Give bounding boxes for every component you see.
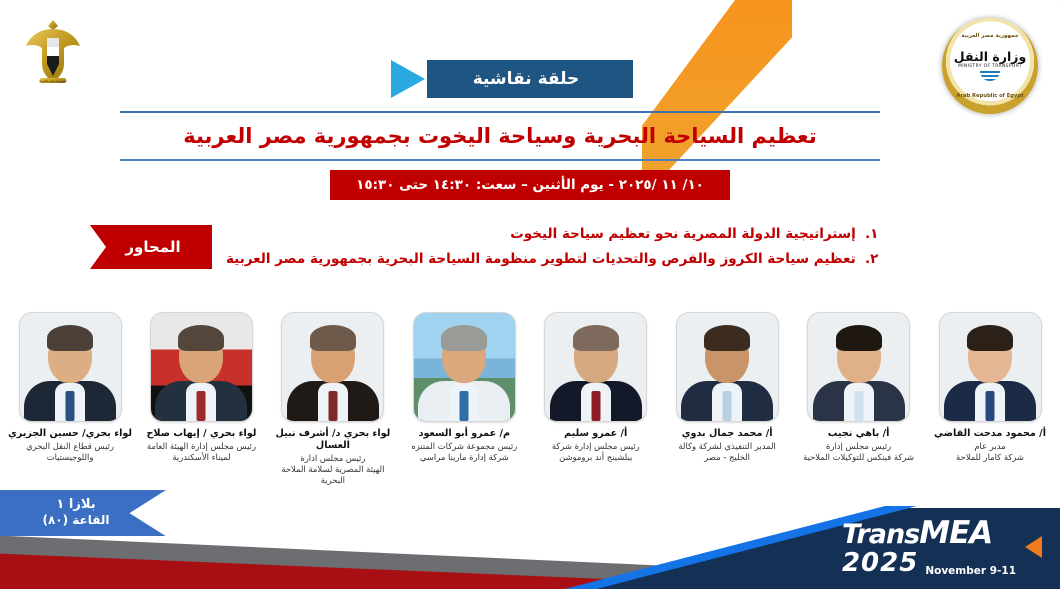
speaker-name: أ/ محمد جمال بدوي xyxy=(664,428,790,440)
badge-arrow-icon xyxy=(391,60,425,98)
axis-number: ١. xyxy=(860,222,878,247)
axis-text: تعظيم سياحة الكروز والفرص والتحديات لتطو… xyxy=(226,251,860,267)
speaker-card: أ/ باهي نجيبرئيس مجلس إدارةشركة فينكس لل… xyxy=(797,312,921,463)
speaker-name: أ/ محمود مدحت القاضي xyxy=(927,428,1053,440)
portrait-hair xyxy=(47,325,93,351)
event-dates: 9-11 November xyxy=(925,566,1016,577)
speaker-portrait xyxy=(544,312,647,422)
axes-list: ١. إستراتيجية الدولة المصرية نحو تعظيم س… xyxy=(226,222,878,272)
axis-item: ٢. تعظيم سياحة الكروز والفرص والتحديات ل… xyxy=(226,247,878,272)
seal-main-text: وزارة النقل xyxy=(954,51,1026,64)
portrait-hair xyxy=(310,325,356,351)
poster-canvas: جمهورية مصر العربية جمهورية مصر العربية … xyxy=(0,0,1060,598)
portrait-tie xyxy=(460,391,469,421)
speakers-row: أ/ محمود مدحت القاضيمدير عامشركة كامار ل… xyxy=(8,312,1052,486)
session-datetime-bar: ١٠/ ١١ /٢٠٢٥ - يوم الأثنين – سعت: ١٤:٣٠ … xyxy=(330,170,730,200)
axis-item: ١. إستراتيجية الدولة المصرية نحو تعظيم س… xyxy=(226,222,878,247)
portrait-hair xyxy=(178,325,224,351)
brand-mea: MEA xyxy=(919,515,992,551)
brand-trans: Trans xyxy=(842,519,919,550)
brand-line-2: 9-11 November 2025 xyxy=(842,550,1016,576)
portrait-tie xyxy=(197,391,206,421)
seal-top-text: جمهورية مصر العربية xyxy=(961,33,1019,39)
speaker-name: لواء بحري د/ أشرف نبيل العسال xyxy=(270,428,396,452)
session-badge-row: حلقة نقاشية xyxy=(0,60,1060,98)
page-title: تعظيم السياحة البحرية وسياحة اليخوت بجمه… xyxy=(120,113,880,159)
hall-room-label: القاعة (٨٠) xyxy=(16,513,136,529)
title-rule-bottom xyxy=(120,159,880,161)
transmea-wordmark: TransMEA 9-11 November 2025 xyxy=(842,518,1016,576)
speaker-role: رئيس مجلس ادارةالهيئة المصرية لسلامة الم… xyxy=(270,453,396,486)
portrait-tie xyxy=(591,391,600,421)
speaker-role: رئيس قطاع النقل البحريواللوجيستيات xyxy=(7,441,133,463)
speaker-name: م/ عمرو أبو السعود xyxy=(401,428,527,440)
speaker-card: لواء بحري د/ أشرف نبيل العسالرئيس مجلس ا… xyxy=(271,312,395,486)
speaker-name: لواء بحري / إيهاب صلاح xyxy=(138,428,264,440)
session-type-badge: حلقة نقاشية xyxy=(427,60,634,98)
speaker-portrait xyxy=(413,312,516,422)
seal-bottom-text: Arab Republic of Egypt xyxy=(956,93,1023,99)
speaker-role: رئيس مجلس إدارةشركة فينكس للتوكيلات المل… xyxy=(796,441,922,463)
play-triangle-icon xyxy=(1025,536,1042,558)
hall-plaza-label: بلازا ١ xyxy=(16,497,136,513)
event-year: 2025 xyxy=(842,550,918,576)
speaker-card: لواء بحري/ حسين الجزيريرئيس قطاع النقل ا… xyxy=(8,312,132,463)
speaker-portrait xyxy=(281,312,384,422)
speaker-name: أ/ عمرو سليم xyxy=(533,428,659,440)
speaker-name: لواء بحري/ حسين الجزيري xyxy=(7,428,133,440)
portrait-tie xyxy=(66,391,75,421)
portrait-hair xyxy=(836,325,882,351)
speaker-portrait xyxy=(19,312,122,422)
speaker-portrait xyxy=(676,312,779,422)
footer-white-strip xyxy=(0,589,1060,598)
speaker-role: رئيس مجموعة شركات المتنزهشركة إدارة ماري… xyxy=(401,441,527,463)
speaker-portrait xyxy=(807,312,910,422)
brand-line-1: TransMEA xyxy=(842,518,992,549)
portrait-tie xyxy=(986,391,995,421)
speaker-role: رئيس مجلس إدارة الهيئة العامةلميناء الأس… xyxy=(138,441,264,463)
speaker-card: م/ عمرو أبو السعودرئيس مجموعة شركات المت… xyxy=(402,312,526,463)
hall-banner: بلازا ١ القاعة (٨٠) xyxy=(0,490,166,536)
egypt-eagle-icon: جمهورية مصر العربية xyxy=(18,16,88,90)
transmea-logo: TransMEA 9-11 November 2025 xyxy=(842,518,1042,576)
axes-flag-label: المحاور xyxy=(90,225,212,269)
speaker-card: أ/ محمد جمال بدويالمدير التنفيذي لشركة و… xyxy=(665,312,789,463)
speaker-card: أ/ محمود مدحت القاضيمدير عامشركة كامار ل… xyxy=(928,312,1052,463)
speaker-role: مدير عامشركة كامار للملاحة xyxy=(927,441,1053,463)
speaker-card: أ/ عمرو سليمرئيس مجلس إدارة شركةيبلشينج … xyxy=(534,312,658,463)
portrait-hair xyxy=(573,325,619,351)
portrait-tie xyxy=(328,391,337,421)
speaker-role: المدير التنفيذي لشركة وكالةالخليج - مصر xyxy=(664,441,790,463)
portrait-hair xyxy=(967,325,1013,351)
seal-sub-text: MINISTRY OF TRANSPORT xyxy=(958,64,1022,69)
date-row: ١٠/ ١١ /٢٠٢٥ - يوم الأثنين – سعت: ١٤:٣٠ … xyxy=(0,170,1060,200)
speaker-name: أ/ باهي نجيب xyxy=(796,428,922,440)
axis-number: ٢. xyxy=(860,247,878,272)
speaker-portrait xyxy=(150,312,253,422)
speaker-card: لواء بحري / إيهاب صلاحرئيس مجلس إدارة ال… xyxy=(139,312,263,463)
portrait-tie xyxy=(854,391,863,421)
portrait-hair xyxy=(704,325,750,351)
axis-text: إستراتيجية الدولة المصرية نحو تعظيم سياح… xyxy=(510,226,860,242)
portrait-tie xyxy=(723,391,732,421)
title-block: تعظيم السياحة البحرية وسياحة اليخوت بجمه… xyxy=(120,111,880,161)
ministry-of-transport-seal: جمهورية مصر العربية وزارة النقل MINISTRY… xyxy=(942,18,1038,114)
session-type-label: حلقة نقاشية xyxy=(473,69,580,89)
water-wave-icon xyxy=(980,71,1000,81)
speaker-portrait xyxy=(939,312,1042,422)
speaker-role: رئيس مجلس إدارة شركةيبلشينج أند بروموشن xyxy=(533,441,659,463)
axes-section: ١. إستراتيجية الدولة المصرية نحو تعظيم س… xyxy=(90,222,850,272)
svg-text:جمهورية مصر العربية: جمهورية مصر العربية xyxy=(39,79,67,83)
portrait-hair xyxy=(441,325,487,351)
